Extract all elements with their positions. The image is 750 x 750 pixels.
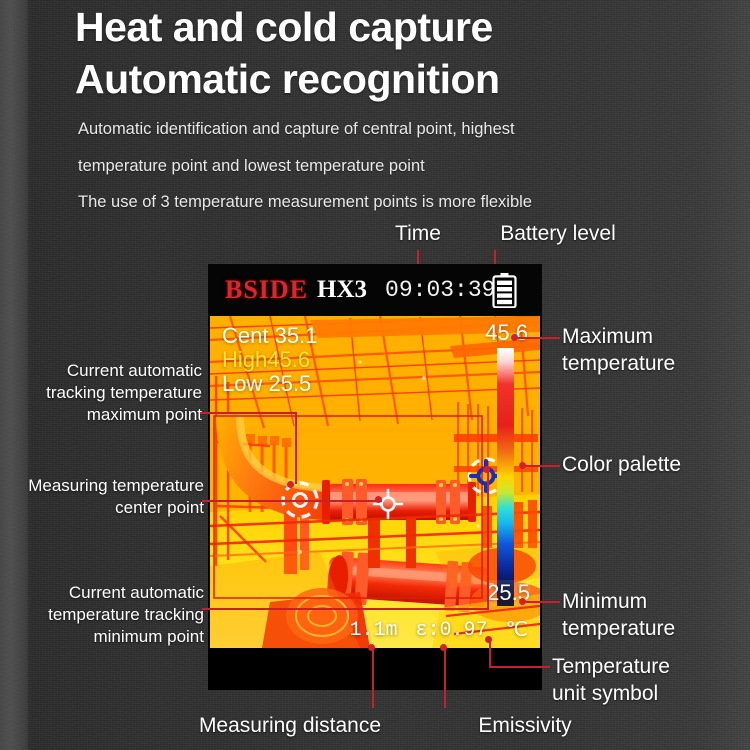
leader-min-temperature [524,601,560,603]
leader-tracking-min-h [202,608,488,610]
color-palette-bar[interactable] [497,348,514,606]
subtitle-line-1: Automatic identification and capture of … [78,120,515,139]
brand-logo-text: BSIDE [225,275,308,305]
callout-tracking-min: Current automatic temperature tracking m… [12,582,204,647]
callout-min-temperature: Minimum temperature [562,589,750,643]
callout-tracking-max-line3: maximum point [10,404,202,426]
device-clock: 09:03:39 [385,277,495,303]
callout-unit-symbol-line2: unit symbol [552,681,748,708]
callout-max-temperature-line1: Maximum [562,324,750,351]
callout-unit-symbol: Temperature unit symbol [552,654,748,708]
callout-min-temperature-line2: temperature [562,616,750,643]
battery-icon [492,273,517,308]
callout-max-temperature-line2: temperature [562,351,750,378]
leader-dot-max-temperature [511,334,518,341]
callout-unit-symbol-line1: Temperature [552,654,748,681]
leader-color-palette [524,465,560,467]
callout-emissivity: Emissivity [430,713,620,740]
page-title-line2: Automatic recognition [75,56,500,103]
leader-emissivity [444,648,446,708]
leader-dot-min-temperature [519,598,526,605]
callout-tracking-max-line1: Current automatic [10,360,202,382]
device-status-bar: BSIDE HX3 09:03:39 [208,264,542,316]
leader-dot-tracking-max [287,481,294,488]
callout-tracking-max: Current automatic tracking temperature m… [10,360,202,425]
leader-dot-center-point [375,496,382,503]
thermal-scene-graphic [210,316,540,648]
leader-dot-emissivity [440,644,447,651]
leader-unit-symbol-h [490,666,550,668]
thermal-camera-screen[interactable]: BSIDE HX3 09:03:39 [208,264,542,690]
leader-unit-symbol-v [489,640,491,668]
device-model-text: HX3 [317,276,367,304]
callout-battery-level: Battery level [468,221,648,248]
leader-max-temperature [516,337,560,339]
callout-max-temperature: Maximum temperature [562,324,750,378]
leader-dot-color-palette [519,462,526,469]
leader-dot-unit-symbol [485,636,492,643]
callout-center-point-line2: center point [8,497,204,519]
leader-tracking-max-h [200,412,296,414]
callout-min-temperature-line1: Minimum [562,589,750,616]
callout-tracking-max-line2: tracking temperature [10,382,202,404]
thermal-image[interactable]: Cent 35.1 High45.6 Low 25.5 45.6 25.5 1.… [210,316,540,648]
leader-dot-tracking-min [483,466,490,473]
leader-tracking-min-v [487,472,489,610]
callout-tracking-min-line2: temperature tracking [12,604,204,626]
leader-dot-measuring-distance [368,644,375,651]
callout-center-point: Measuring temperature center point [8,475,204,519]
subtitle-line-3: The use of 3 temperature measurement poi… [78,193,532,212]
callout-measuring-distance: Measuring distance [160,713,420,740]
callout-tracking-min-line1: Current automatic [12,582,204,604]
leader-measuring-distance [372,648,374,708]
callout-time: Time [348,221,488,248]
subtitle-line-2: temperature point and lowest temperature… [78,157,425,176]
callout-color-palette: Color palette [562,452,750,479]
leader-center-point-h [202,500,382,502]
page-title-line1: Heat and cold capture [75,4,493,51]
callout-tracking-min-line3: minimum point [12,626,204,648]
leader-tracking-max-v [295,412,297,484]
callout-center-point-line1: Measuring temperature [8,475,204,497]
